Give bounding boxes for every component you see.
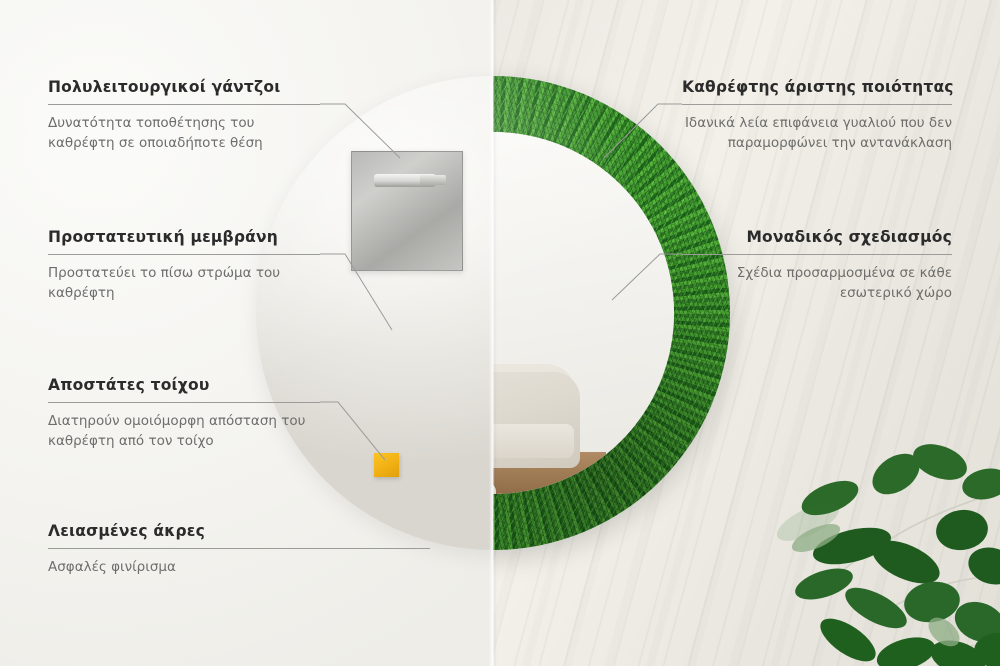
callout-body: Σχέδια προσαρμοσμένα σε κάθε εσωτερικό χ… [682, 264, 952, 303]
callout-body: Ιδανικά λεία επιφάνεια γυαλιού που δεν π… [682, 114, 952, 153]
callout-body: Προστατεύει το πίσω στρώμα του καθρέφτη [48, 264, 320, 303]
callout-protective-membrane: Προστατευτική μεμβράνη Προστατεύει το πί… [48, 228, 320, 303]
product-infographic: Πολυλειτουργικοί γάντζοι Δυνατότητα τοπο… [0, 0, 1000, 666]
callout-body: Δυνατότητα τοποθέτησης του καθρέφτη σε ο… [48, 114, 320, 153]
callout-rule [682, 254, 952, 255]
callout-multifunctional-hooks: Πολυλειτουργικοί γάντζοι Δυνατότητα τοπο… [48, 78, 320, 153]
hook-plate-icon [351, 151, 463, 271]
panel-divider [489, 0, 497, 666]
callout-body: Διατηρούν ομοιόμορφη απόσταση του καθρέφ… [48, 412, 320, 451]
glass-reflection-sheen [493, 132, 674, 494]
callout-body: Ασφαλές φινίρισμα [48, 558, 430, 578]
callout-rule [48, 548, 430, 549]
callout-title: Λειασμένες άκρες [48, 522, 430, 540]
callout-title: Πολυλειτουργικοί γάντζοι [48, 78, 320, 96]
callout-title: Μοναδικός σχεδιασμός [682, 228, 952, 246]
callout-rule [48, 104, 320, 105]
callout-rule [48, 254, 320, 255]
callout-wall-spacers: Αποστάτες τοίχου Διατηρούν ομοιόμορφη απ… [48, 376, 320, 451]
hook-bracket [374, 174, 436, 187]
wall-spacer-icon [374, 453, 399, 477]
callout-rule [48, 402, 320, 403]
callout-unique-design: Μοναδικός σχεδιασμός Σχέδια προσαρμοσμέν… [682, 228, 952, 303]
leaf-icon [700, 426, 1000, 666]
callout-rule [682, 104, 952, 105]
callout-title: Προστατευτική μεμβράνη [48, 228, 320, 246]
callout-top-quality-mirror: Καθρέφτης άριστης ποιότητας Ιδανικά λεία… [682, 78, 952, 153]
mirror-glass-surface [493, 132, 674, 494]
callout-title: Καθρέφτης άριστης ποιότητας [682, 78, 952, 96]
callout-title: Αποστάτες τοίχου [48, 376, 320, 394]
callout-smoothed-edges: Λειασμένες άκρες Ασφαλές φινίρισμα [48, 522, 430, 578]
